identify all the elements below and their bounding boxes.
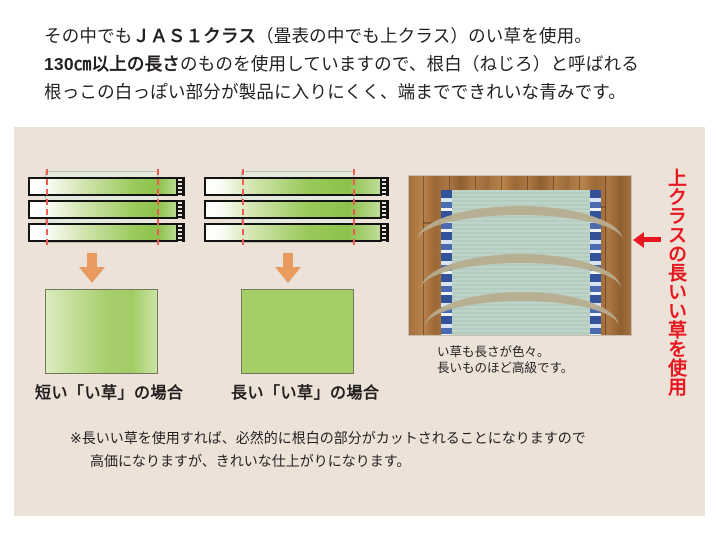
short-case-label: 短い「い草」の場合	[35, 379, 184, 403]
short-case-cut-line-left	[46, 169, 48, 245]
short-case-result-rect	[45, 289, 158, 374]
red-pointer-arrow-icon	[633, 232, 661, 248]
long-case-cut-line-right	[353, 169, 355, 245]
footnote-line-1: ※長いい草を使用すれば、必然的に根白の部分がカットされることになりますので	[70, 427, 586, 450]
intro-line-1: その中でもＪＡＳ１クラス（畳表の中でも上クラス）のい草を使用。	[44, 22, 694, 50]
footnote: ※長いい草を使用すれば、必然的に根白の部分がカットされることになりますので 高価…	[70, 427, 586, 473]
saw-edge-icon	[176, 223, 185, 242]
intro-paragraph: その中でもＪＡＳ１クラス（畳表の中でも上クラス）のい草を使用。 130㎝以上の長…	[44, 22, 694, 106]
intro-line-2-rest: のものを使用していますので、根白（ねじろ）と呼ばれる	[180, 54, 639, 74]
intro-line-2: 130㎝以上の長さのものを使用していますので、根白（ねじろ）と呼ばれる	[44, 50, 694, 78]
intro-line-1-rest: （畳表の中でも上クラス）のい草を使用。	[256, 26, 592, 46]
infographic-page: その中でもＪＡＳ１クラス（畳表の中でも上クラス）のい草を使用。 130㎝以上の長…	[0, 0, 720, 534]
short-case-bar-2	[28, 200, 178, 219]
long-case-arrow-down-icon	[275, 253, 301, 283]
saw-edge-icon	[380, 200, 389, 219]
photo-caption-line-1: い草も長さが色々。	[437, 344, 573, 360]
long-case-bar-3	[204, 223, 382, 242]
saw-edge-icon	[176, 200, 185, 219]
photo-caption: い草も長さが色々。 長いものほど高級です。	[437, 344, 573, 376]
short-case-bar-1	[28, 177, 178, 196]
igusa-photo	[409, 176, 631, 335]
short-case-cut-line-right	[157, 169, 159, 245]
long-case-result-rect	[241, 289, 354, 374]
saw-edge-icon	[380, 223, 389, 242]
saw-edge-icon	[380, 177, 389, 196]
saw-edge-icon	[176, 177, 185, 196]
long-case-bar-2	[204, 200, 382, 219]
footnote-line-2: 高価になりますが、きれいな仕上がりになります。	[70, 450, 586, 473]
long-case-label: 長い「い草」の場合	[231, 379, 380, 403]
intro-line-3: 根っこの白っぽい部分が製品に入りにくく、端までできれいな青みです。	[44, 78, 694, 106]
short-case-arrow-down-icon	[79, 253, 105, 283]
intro-line-2-bold: 130㎝以上の長さ	[44, 54, 180, 74]
photo-caption-line-2: 長いものほど高級です。	[437, 360, 573, 376]
long-case-bar-1	[204, 177, 382, 196]
vertical-callout-text: 上クラスの長いい草を使用	[660, 168, 686, 396]
intro-line-1-prefix: その中でも	[44, 26, 133, 46]
intro-line-1-bold: ＪＡＳ１クラス	[133, 26, 257, 46]
long-case-cut-line-left	[242, 169, 244, 245]
short-case-bar-3	[28, 223, 178, 242]
